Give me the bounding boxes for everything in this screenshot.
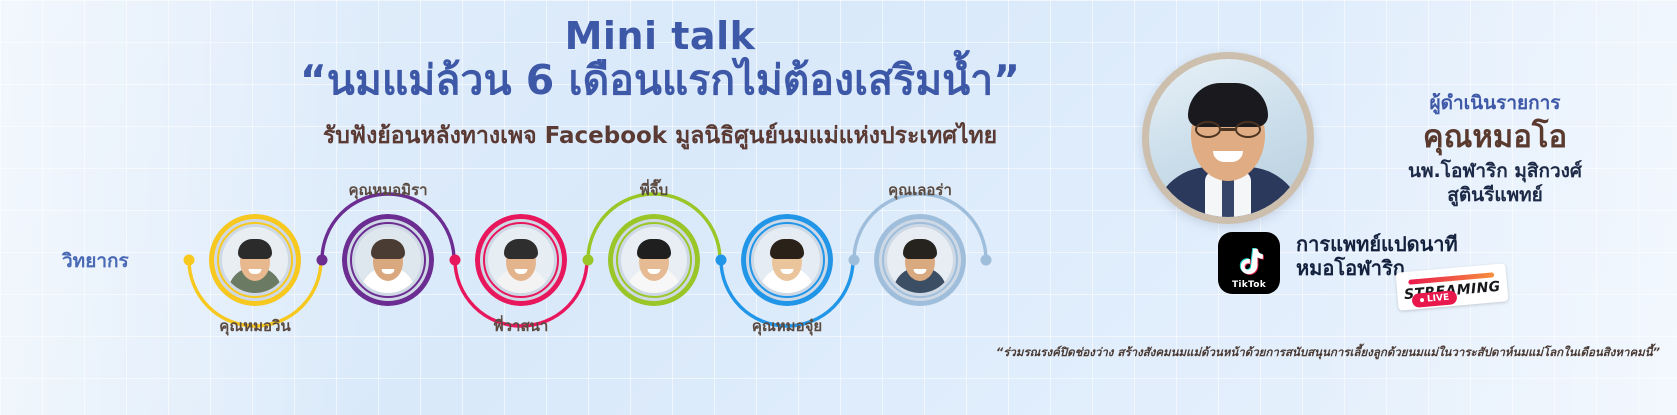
speaker-avatar[interactable] bbox=[741, 214, 833, 306]
speaker-avatar[interactable] bbox=[342, 214, 434, 306]
webinar-promo-banner: Mini talk “นมแม่ล้วน 6 เดือนแรกไม่ต้องเส… bbox=[0, 0, 1677, 415]
tiktok-icon[interactable]: TikTok bbox=[1218, 232, 1280, 294]
avatar-photo bbox=[887, 227, 953, 293]
tiktok-note-glyph bbox=[1234, 247, 1264, 279]
speaker-avatar[interactable] bbox=[874, 214, 966, 306]
avatar-photo bbox=[488, 227, 554, 293]
timeline-node-dot bbox=[583, 255, 594, 266]
host-info: ผู้ดำเนินรายการ คุณหมอโอ นพ.โอฬาริก มุสิ… bbox=[1330, 88, 1660, 208]
headline-block: Mini talk “นมแม่ล้วน 6 เดือนแรกไม่ต้องเส… bbox=[240, 16, 1080, 154]
avatar-photo bbox=[621, 227, 687, 293]
timeline-node-dot bbox=[981, 255, 992, 266]
avatar-photo bbox=[222, 227, 288, 293]
live-dot-icon bbox=[1420, 298, 1424, 302]
headline-subtitle: รับฟังย้อนหลังทางเพจ Facebook มูลนิธิศูน… bbox=[240, 118, 1080, 154]
speaker-name-label: คุณหมอมิรา bbox=[348, 178, 427, 202]
host-role-label: ผู้ดำเนินรายการ bbox=[1330, 88, 1660, 118]
footer-note: “ร่วมรณรงค์ปิดช่องว่าง สร้างสังคมนมแม่ด้… bbox=[840, 344, 1660, 362]
timeline-node-dot bbox=[450, 255, 461, 266]
tiktok-wordmark: TikTok bbox=[1218, 280, 1280, 290]
speaker-timeline: วิทยากร คุณหมอวินคุณหมอมิราพี่วาสนาพี่จี… bbox=[0, 178, 1060, 353]
timeline-node-dot bbox=[184, 255, 195, 266]
speaker-name-label: พี่จี๊บ bbox=[640, 178, 668, 202]
host-full-name: นพ.โอฬาริก มุสิกวงศ์ bbox=[1330, 160, 1660, 184]
avatar-photo bbox=[754, 227, 820, 293]
headline-quote: “นมแม่ล้วน 6 เดือนแรกไม่ต้องเสริมน้ำ” bbox=[240, 57, 1080, 104]
speaker-name-label: คุณหมอจุ๋ย bbox=[752, 314, 822, 338]
speaker-avatar[interactable] bbox=[209, 214, 301, 306]
speaker-name-label: คุณเลอร่า bbox=[888, 178, 952, 202]
host-specialty: สูตินรีแพทย์ bbox=[1330, 184, 1660, 208]
host-photo-image bbox=[1149, 59, 1307, 217]
speaker-avatar[interactable] bbox=[608, 214, 700, 306]
live-label: LIVE bbox=[1427, 293, 1450, 305]
host-nickname: คุณหมอโอ bbox=[1330, 120, 1660, 154]
timeline-node-dot bbox=[317, 255, 328, 266]
avatar-photo bbox=[355, 227, 421, 293]
channel-name-line1: การแพทย์แปดนาที bbox=[1296, 232, 1458, 256]
host-avatar bbox=[1142, 52, 1314, 224]
speaker-avatar[interactable] bbox=[475, 214, 567, 306]
page-title: Mini talk bbox=[240, 16, 1080, 57]
speaker-name-label: คุณหมอวิน bbox=[219, 314, 290, 338]
timeline-node-dot bbox=[716, 255, 727, 266]
timeline-node-dot bbox=[849, 255, 860, 266]
speaker-name-label: พี่วาสนา bbox=[494, 314, 549, 338]
